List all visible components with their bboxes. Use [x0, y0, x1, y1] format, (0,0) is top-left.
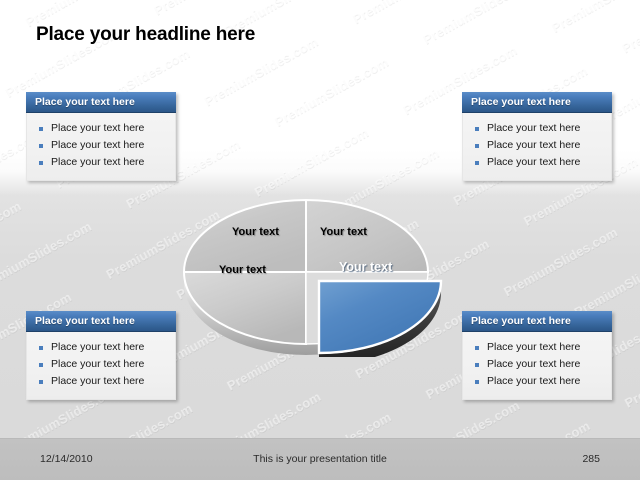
- text-box-header: Place your text here: [26, 311, 176, 332]
- slide-footer: 12/14/2010 This is your presentation tit…: [0, 439, 640, 480]
- pie-label-top-left: Your text: [232, 226, 279, 238]
- bullet-square-icon: [39, 363, 43, 367]
- text-box-body: Place your text here Place your text her…: [462, 113, 612, 181]
- list-item: Place your text here: [35, 154, 169, 171]
- list-item: Place your text here: [35, 356, 169, 373]
- text-box-body: Place your text here Place your text her…: [462, 332, 612, 400]
- watermark-text: PremiumSlides.com: [0, 198, 24, 273]
- text-box-header: Place your text here: [462, 92, 612, 113]
- text-box-top-right[interactable]: Place your text here Place your text her…: [462, 92, 612, 181]
- pie-label-bottom-left: Your text: [219, 264, 266, 276]
- list-item: Place your text here: [471, 137, 605, 154]
- watermark-text: PremiumSlides.com: [619, 0, 640, 56]
- pie-label-bottom-right: Your text: [339, 260, 392, 274]
- text-box-bottom-left[interactable]: Place your text here Place your text her…: [26, 311, 176, 400]
- list-item: Place your text here: [471, 154, 605, 171]
- bullet-square-icon: [475, 127, 479, 131]
- list-item-label: Place your text here: [51, 137, 144, 154]
- watermark-text: PremiumSlides.com: [549, 0, 640, 35]
- list-item-label: Place your text here: [487, 120, 580, 137]
- list-item-label: Place your text here: [51, 373, 144, 390]
- list-item-label: Place your text here: [487, 356, 580, 373]
- bullet-square-icon: [39, 346, 43, 350]
- list-item-label: Place your text here: [51, 339, 144, 356]
- watermark-text: PremiumSlides.com: [151, 0, 270, 18]
- list-item: Place your text here: [471, 120, 605, 137]
- text-box-top-left[interactable]: Place your text here Place your text her…: [26, 92, 176, 181]
- list-item: Place your text here: [35, 339, 169, 356]
- pie-slice-bottom-right: [319, 281, 441, 353]
- bullet-square-icon: [39, 144, 43, 148]
- text-box-body: Place your text here Place your text her…: [26, 113, 176, 181]
- bullet-square-icon: [475, 346, 479, 350]
- bullet-square-icon: [475, 363, 479, 367]
- pie-chart-svg: [170, 182, 490, 357]
- watermark-text: PremiumSlides.com: [272, 54, 391, 129]
- pie-label-top-right: Your text: [320, 226, 367, 238]
- bullet-square-icon: [475, 380, 479, 384]
- list-item-label: Place your text here: [51, 154, 144, 171]
- watermark-text: PremiumSlides.com: [420, 0, 539, 47]
- text-box-bottom-right[interactable]: Place your text here Place your text her…: [462, 311, 612, 400]
- text-box-header: Place your text here: [462, 311, 612, 332]
- list-item-label: Place your text here: [487, 137, 580, 154]
- list-item-label: Place your text here: [51, 356, 144, 373]
- pie-chart: Your text Your text Your text Your text: [170, 182, 490, 357]
- watermark-text: PremiumSlides.com: [0, 219, 94, 294]
- footer-title: This is your presentation title: [0, 453, 640, 465]
- pie-slice-highlight-group: [319, 281, 441, 357]
- presentation-slide: PremiumSlides.comPremiumSlides.comPremiu…: [0, 0, 640, 480]
- pie-slice-bottom-left: [184, 272, 306, 344]
- bullet-square-icon: [39, 127, 43, 131]
- list-item: Place your text here: [471, 356, 605, 373]
- watermark-text: PremiumSlides.com: [501, 224, 620, 299]
- bullet-square-icon: [39, 161, 43, 165]
- list-item-label: Place your text here: [51, 120, 144, 137]
- list-item: Place your text here: [35, 373, 169, 390]
- watermark-text: PremiumSlides.com: [350, 0, 469, 27]
- watermark-text: PremiumSlides.com: [622, 336, 640, 411]
- text-box-body: Place your text here Place your text her…: [26, 332, 176, 400]
- bullet-square-icon: [475, 161, 479, 165]
- list-item: Place your text here: [471, 339, 605, 356]
- list-item: Place your text here: [35, 137, 169, 154]
- list-item-label: Place your text here: [487, 154, 580, 171]
- bullet-square-icon: [39, 380, 43, 384]
- list-item-label: Place your text here: [487, 339, 580, 356]
- list-item: Place your text here: [35, 120, 169, 137]
- list-item-label: Place your text here: [487, 373, 580, 390]
- list-item: Place your text here: [471, 373, 605, 390]
- footer-page-number: 285: [582, 453, 600, 465]
- footer-divider: [0, 438, 640, 439]
- watermark-text: PremiumSlides.com: [572, 245, 640, 320]
- page-title: Place your headline here: [36, 24, 255, 46]
- bullet-square-icon: [475, 144, 479, 148]
- text-box-header: Place your text here: [26, 92, 176, 113]
